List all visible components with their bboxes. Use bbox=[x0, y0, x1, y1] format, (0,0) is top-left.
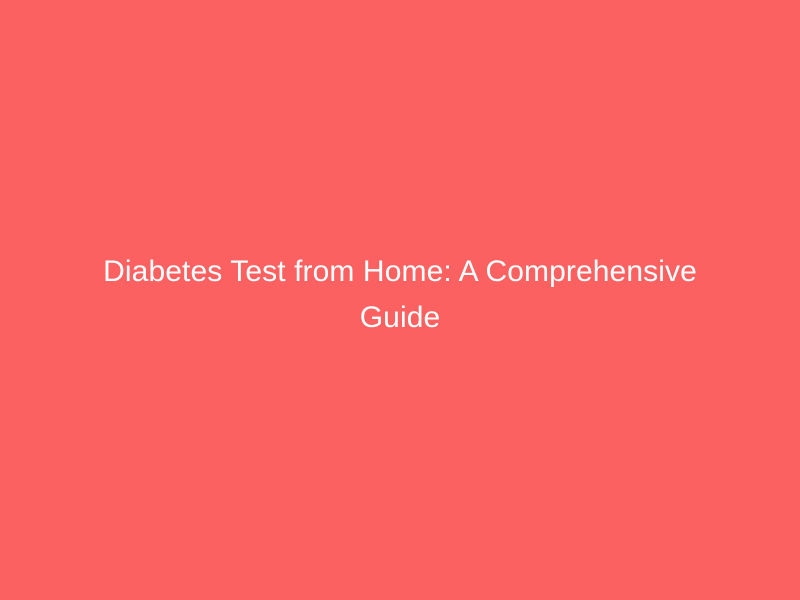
page-title: Diabetes Test from Home: A Comprehensive… bbox=[90, 249, 710, 341]
hero-banner: Diabetes Test from Home: A Comprehensive… bbox=[0, 0, 800, 600]
hero-content-wrapper: Diabetes Test from Home: A Comprehensive… bbox=[70, 249, 730, 341]
